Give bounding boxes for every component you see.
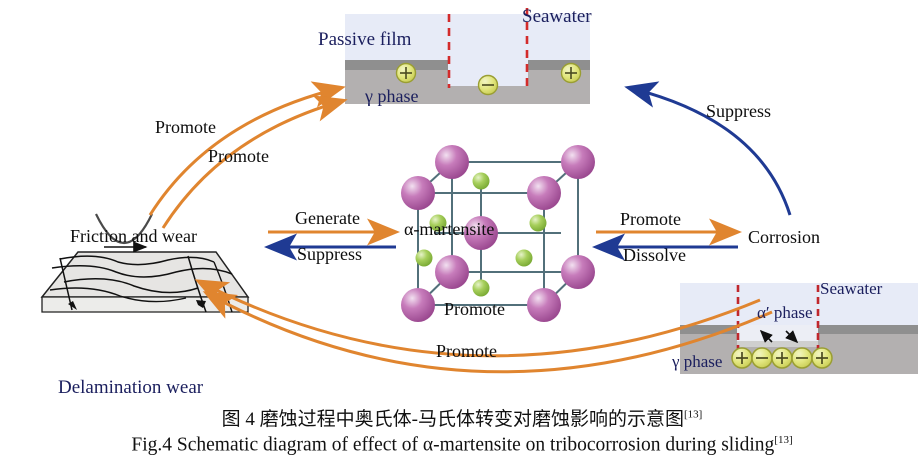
caption-en-reference: [13] [774,434,792,446]
label-suppress-arc: Suppress [706,101,771,122]
lattice-corner-atom-front-bottom-right [527,288,561,322]
lattice-small-atom-left [416,250,433,267]
label-promote-lower-1: Promote [444,299,505,320]
label-alpha-martensite: α-martensite [404,219,494,240]
bot-ion-5-positive [812,348,832,368]
lattice-corner-atom-back-top-right [561,145,595,179]
label-alpha-prime-phase: α′ phase [757,303,813,323]
label-seawater-bottom: Seawater [820,279,882,299]
label-seawater-top: Seawater [522,6,592,28]
lattice-corner-atom-back-bottom-left [435,255,469,289]
top-ion-negative-center [479,76,498,95]
bot-ion-4-negative [792,348,812,368]
figure-caption-english: Fig.4 Schematic diagram of effect of α-m… [0,434,924,457]
lattice-corner-atom-front-top-left [401,176,435,210]
figure-canvas: Passive film Seawater γ phase Promote Pr… [0,0,924,466]
label-suppress: Suppress [297,244,362,265]
top-ion-positive-right [562,64,581,83]
bot-ion-1-positive [732,348,752,368]
lattice-small-atom-top [473,173,490,190]
label-gamma-phase-top: γ phase [365,86,418,107]
lattice-corner-atom-front-top-right [527,176,561,210]
label-promote-lower-2: Promote [436,341,497,362]
top-ion-positive-left [397,64,416,83]
label-promote-right: Promote [620,209,681,230]
bot-ion-row [732,348,832,368]
bot-pit-floor [737,341,818,347]
bot-ion-3-positive [772,348,792,368]
caption-cn-text: 图 4 磨蚀过程中奥氏体-马氏体转变对磨蚀影响的示意图 [222,409,684,430]
label-promote-upper-2: Promote [208,146,269,167]
lattice-corner-atom-back-bottom-right [561,255,595,289]
label-corrosion: Corrosion [748,227,820,248]
label-promote-upper-1: Promote [155,117,216,138]
label-generate: Generate [295,208,360,229]
caption-en-text: Fig.4 Schematic diagram of effect of α-m… [131,435,774,456]
lattice-corner-atom-front-bottom-left [401,288,435,322]
label-gamma-phase-bottom: γ phase [672,352,722,372]
lattice-corner-atom-back-top-left [435,145,469,179]
lattice-small-atom-bottom [473,280,490,297]
figure-caption-chinese: 图 4 磨蚀过程中奥氏体-马氏体转变对磨蚀影响的示意图[13] [0,404,924,431]
label-dissolve: Dissolve [623,245,686,266]
label-friction-and-wear: Friction and wear [70,226,197,247]
caption-cn-reference: [13] [684,409,702,421]
lattice-small-atom-upper-right [530,215,547,232]
label-passive-film: Passive film [318,29,411,51]
bot-ion-2-negative [752,348,772,368]
lattice-small-atom-right [516,250,533,267]
label-delamination-wear: Delamination wear [58,377,203,399]
